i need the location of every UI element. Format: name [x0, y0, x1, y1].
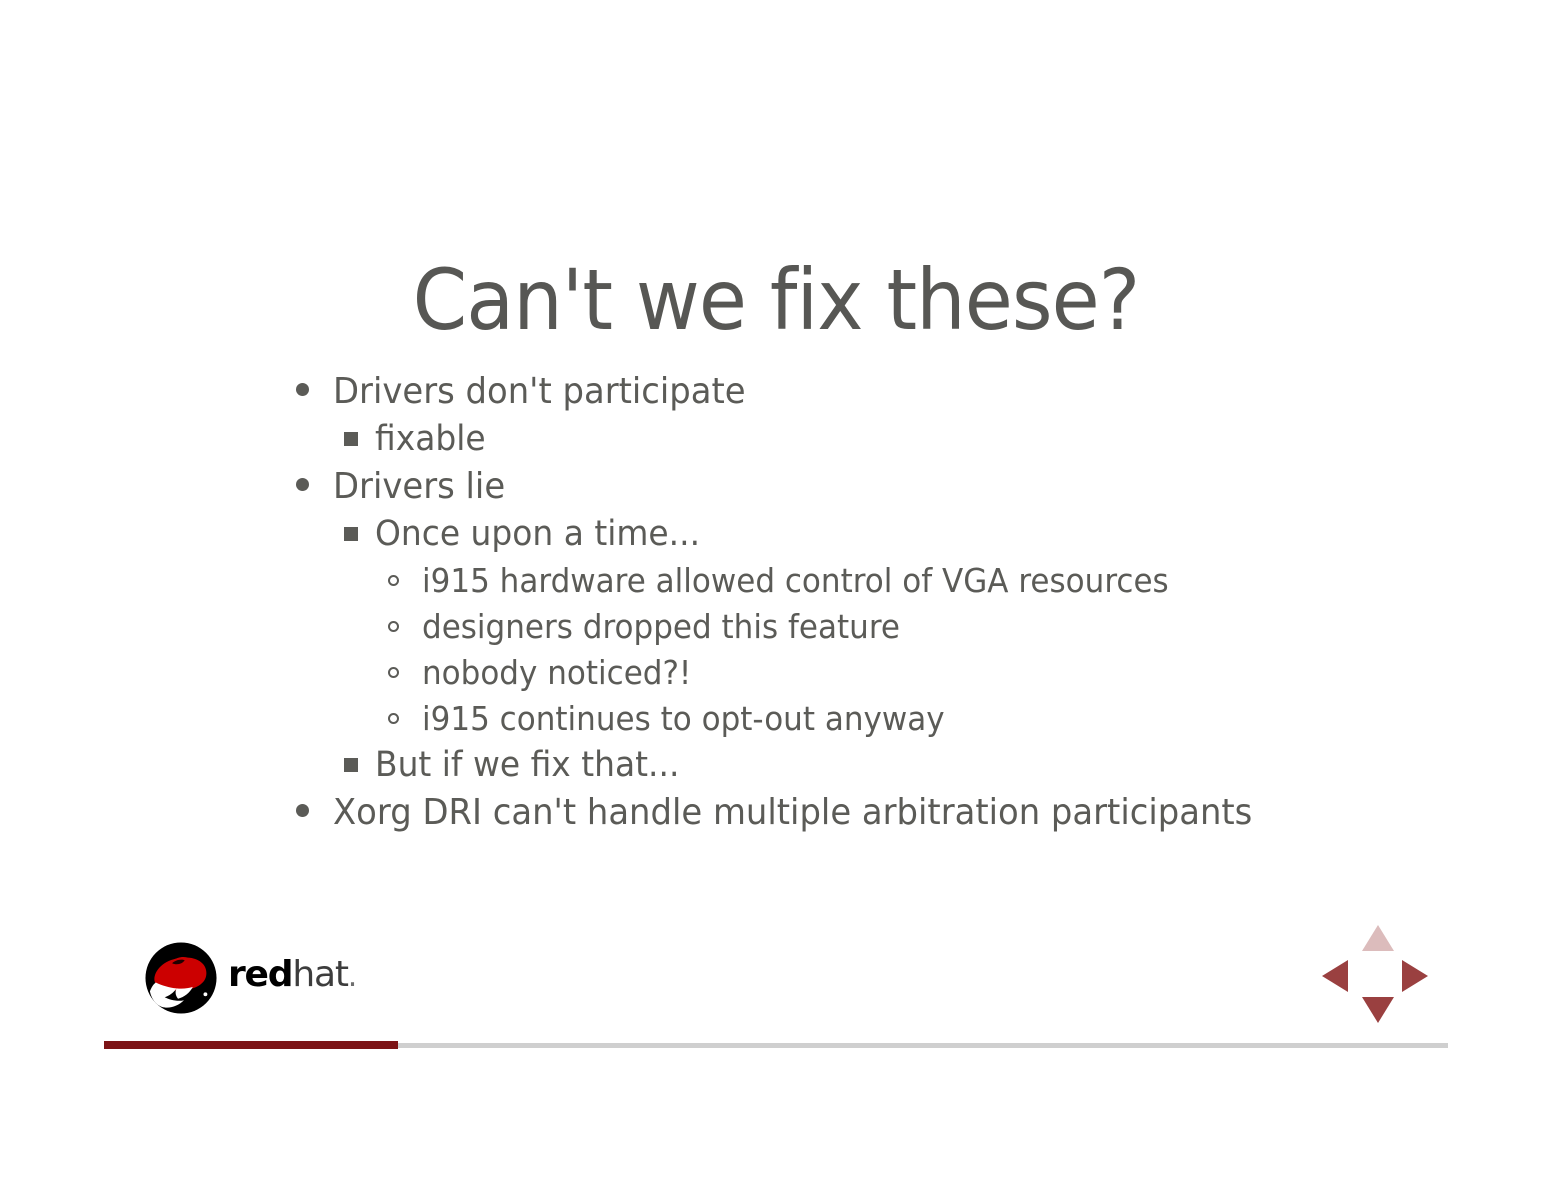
list-item-label: i915 hardware allowed control of VGA res… — [422, 558, 1169, 603]
bullet-disc-icon — [296, 804, 309, 817]
bullet-list: Drivers don't participate fixable Driver… — [0, 368, 1552, 837]
wordmark-period: . — [348, 959, 356, 994]
slide-navigation-arrows — [1322, 925, 1428, 1025]
list-item: nobody noticed?! — [0, 650, 1552, 696]
arrow-down-icon[interactable] — [1362, 997, 1394, 1023]
arrow-right-icon[interactable] — [1402, 960, 1428, 992]
list-item: But if we fix that... — [0, 742, 1552, 789]
list-item-label: Drivers lie — [333, 463, 505, 510]
wordmark-red: red — [228, 954, 292, 995]
list-item-label: i915 continues to opt-out anyway — [422, 696, 945, 741]
bullet-disc-icon — [296, 478, 309, 491]
list-item-label: nobody noticed?! — [422, 650, 691, 695]
list-item: i915 hardware allowed control of VGA res… — [0, 558, 1552, 604]
slide-canvas: Can't we fix these? Drivers don't partic… — [0, 0, 1552, 1199]
list-item: Drivers don't participate — [0, 368, 1552, 416]
bullet-circle-icon — [388, 621, 399, 632]
list-item: Xorg DRI can't handle multiple arbitrati… — [0, 789, 1552, 837]
list-item-label: fixable — [375, 416, 486, 462]
list-item-label: Drivers don't participate — [333, 368, 746, 415]
bullet-circle-icon — [388, 713, 399, 724]
list-item-label: designers dropped this feature — [422, 604, 900, 649]
bullet-circle-icon — [388, 575, 399, 586]
footer-rule-red — [104, 1041, 398, 1049]
bullet-square-icon — [344, 432, 358, 446]
list-item-label: Xorg DRI can't handle multiple arbitrati… — [333, 789, 1252, 836]
list-item-label: But if we fix that... — [375, 742, 679, 788]
page-title: Can't we fix these? — [54, 252, 1497, 348]
bullet-disc-icon — [296, 383, 309, 396]
list-item: designers dropped this feature — [0, 604, 1552, 650]
arrow-up-icon[interactable] — [1362, 925, 1394, 951]
redhat-wordmark: redhat. — [228, 957, 356, 999]
wordmark-hat: hat — [292, 954, 347, 995]
bullet-circle-icon — [388, 667, 399, 678]
list-item: Once upon a time... — [0, 511, 1552, 558]
redhat-logo: redhat. — [144, 938, 354, 1018]
bullet-square-icon — [344, 758, 358, 772]
arrow-left-icon[interactable] — [1322, 960, 1348, 992]
list-item: Drivers lie — [0, 463, 1552, 511]
list-item-label: Once upon a time... — [375, 511, 700, 557]
list-item: i915 continues to opt-out anyway — [0, 696, 1552, 742]
bullet-square-icon — [344, 527, 358, 541]
list-item: fixable — [0, 416, 1552, 463]
redhat-shadowman-icon — [144, 941, 218, 1015]
